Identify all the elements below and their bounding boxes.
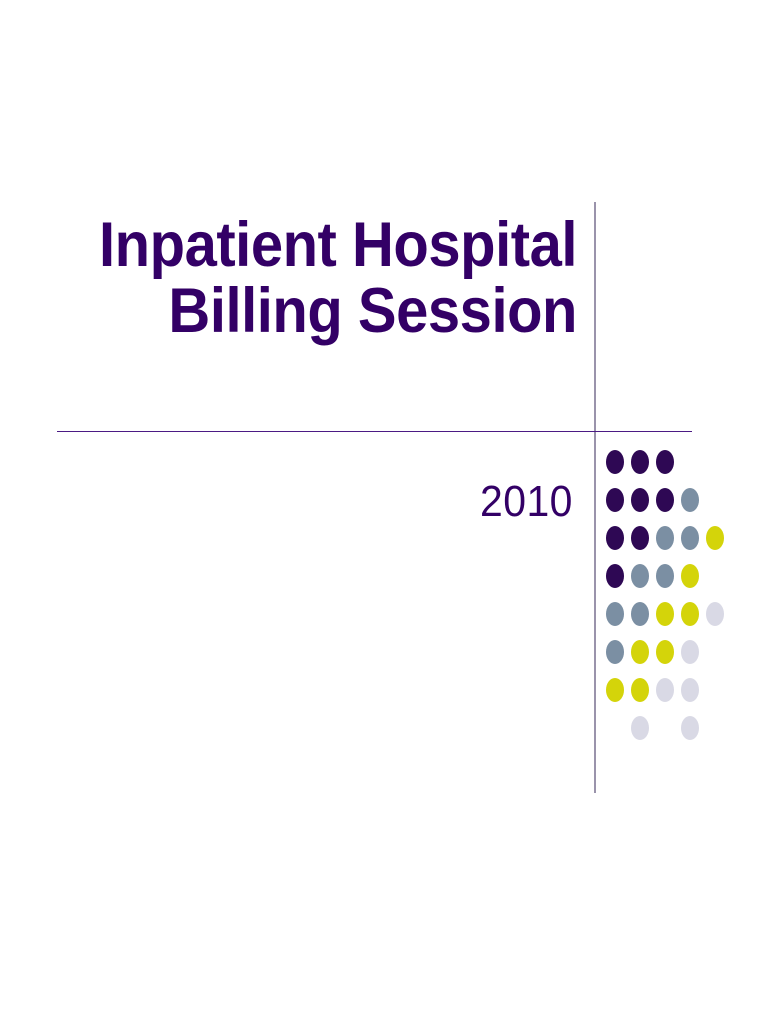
dot-lavender (631, 716, 649, 740)
dot-purple (631, 450, 649, 474)
title-line-2: Billing Session (83, 278, 577, 344)
dot-lavender (681, 678, 699, 702)
title-line-1: Inpatient Hospital (83, 212, 577, 278)
slide-subtitle: 2010 (40, 479, 573, 525)
title-slide: Inpatient Hospital Billing Session 2010 (0, 0, 770, 1024)
dot-lavender (656, 678, 674, 702)
dot-purple (631, 488, 649, 512)
dot-slate (606, 602, 624, 626)
dot-slate (656, 526, 674, 550)
dot-slate (681, 488, 699, 512)
year-label: 2010 (480, 479, 573, 525)
dot-yellow (681, 564, 699, 588)
dot-matrix-row (606, 602, 736, 640)
dot-matrix-row (606, 716, 736, 754)
dot-matrix-row (606, 450, 736, 488)
dot-matrix-row (606, 640, 736, 678)
dot-purple (606, 450, 624, 474)
dot-purple (656, 488, 674, 512)
dot-slate (631, 602, 649, 626)
slide-title: Inpatient Hospital Billing Session (40, 212, 577, 344)
dot-yellow (606, 678, 624, 702)
dot-yellow (656, 602, 674, 626)
dot-yellow (631, 640, 649, 664)
dot-matrix-row (606, 488, 736, 526)
dot-slate (656, 564, 674, 588)
dot-yellow (681, 602, 699, 626)
dot-purple (606, 526, 624, 550)
dot-matrix-row (606, 526, 736, 564)
dot-slate (681, 526, 699, 550)
dot-yellow (656, 640, 674, 664)
dot-matrix-row (606, 564, 736, 602)
dot-purple (656, 450, 674, 474)
dot-matrix-row (606, 678, 736, 716)
dot-purple (606, 488, 624, 512)
dot-purple (631, 526, 649, 550)
dot-yellow (631, 678, 649, 702)
dot-matrix-decoration (606, 450, 736, 750)
dot-slate (606, 640, 624, 664)
dot-lavender (681, 640, 699, 664)
dot-yellow (706, 526, 724, 550)
dot-lavender (706, 602, 724, 626)
dot-lavender (681, 716, 699, 740)
vertical-divider-rule (594, 202, 596, 793)
horizontal-divider-rule (57, 431, 692, 432)
dot-slate (631, 564, 649, 588)
dot-purple (606, 564, 624, 588)
